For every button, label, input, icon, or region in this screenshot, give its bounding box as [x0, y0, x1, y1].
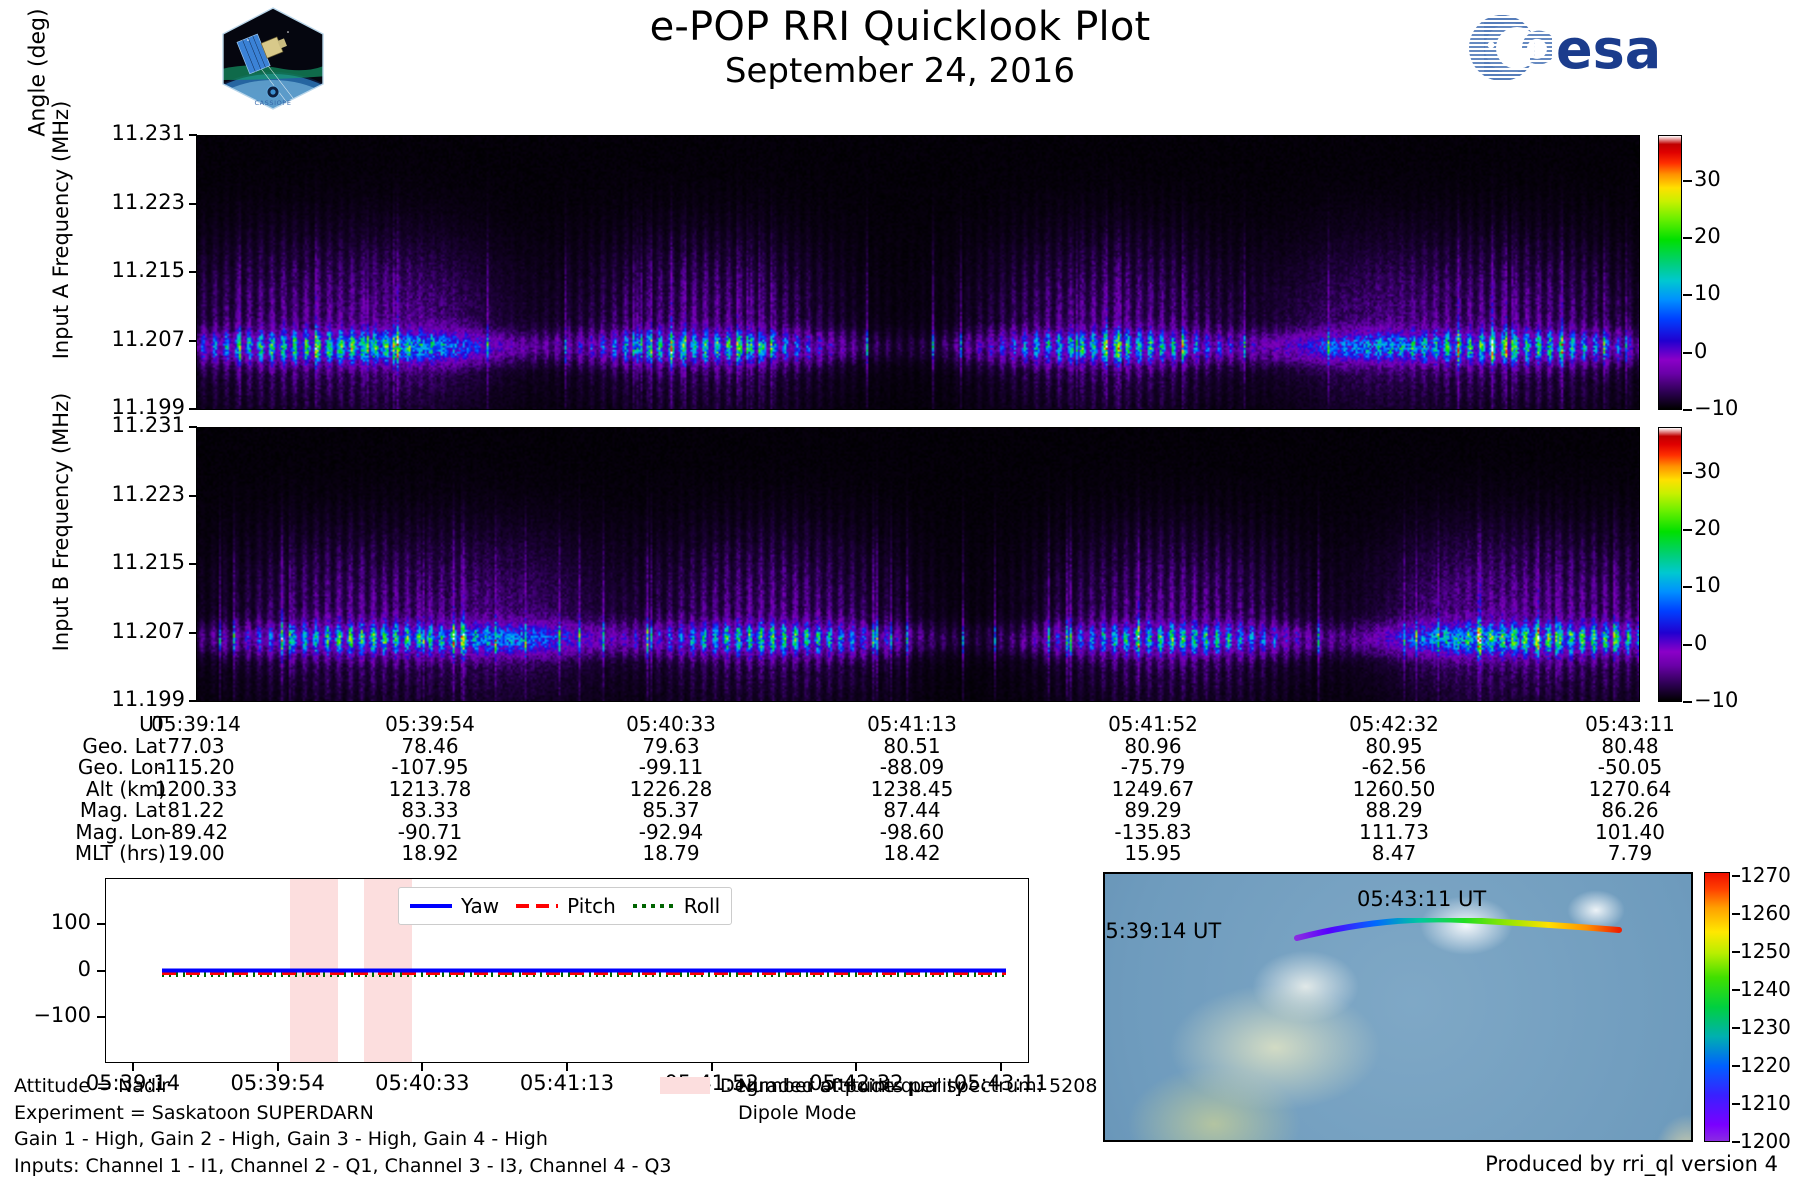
tick-mark [566, 1063, 568, 1071]
voltage-colorbar-tick: 10 [1694, 573, 1721, 597]
ephemeris-cell: 88.29 [1365, 798, 1422, 822]
attitude-ylabel: Angle (deg) [26, 0, 51, 153]
attitude-legend: YawPitchRoll [398, 887, 732, 925]
footer-middle-notes: Degraded attitude quality Number of poin… [738, 1073, 1097, 1126]
tick-mark [189, 495, 197, 497]
ephemeris-cell: -88.09 [880, 755, 944, 779]
ephemeris-cell: 1260.50 [1353, 777, 1436, 801]
ephemeris-row-label: Mag. Lon [0, 820, 166, 844]
ephemeris-cell: 77.03 [167, 734, 224, 758]
spectrogram-a-ytick: 11.215 [10, 258, 185, 282]
tick-mark [1683, 472, 1692, 474]
ephemeris-cell: 111.73 [1359, 820, 1429, 844]
tick-mark [1732, 989, 1740, 991]
footer-note-line: Experiment = Saskatoon SUPERDARN [14, 1100, 672, 1127]
globe-orthographic [1103, 872, 1693, 1142]
altitude-colorbar-tick: 1240 [1740, 977, 1791, 1001]
tick-mark [189, 408, 197, 410]
attitude-ytick: 0 [0, 957, 91, 981]
tick-mark [189, 203, 197, 205]
tick-mark [97, 970, 105, 972]
attitude-legend-item: Yaw [410, 894, 499, 918]
ephemeris-row: Mag. Lon-89.42-90.71-92.94-98.60-135.831… [0, 820, 1800, 842]
tick-mark [97, 1016, 105, 1018]
tick-mark [97, 923, 105, 925]
altitude-colorbar-tick: 1250 [1740, 939, 1791, 963]
tick-mark [132, 1063, 134, 1071]
ephemeris-cell: 05:39:14 [151, 712, 241, 736]
spectrogram-b-ytick: 11.199 [10, 687, 185, 711]
ephemeris-cell: 1226.28 [630, 777, 713, 801]
tick-mark [1683, 294, 1692, 296]
ephemeris-cell: 1213.78 [389, 777, 472, 801]
ephemeris-cell: 101.40 [1595, 820, 1665, 844]
tick-mark [711, 1063, 713, 1071]
legend-label: Yaw [461, 894, 499, 918]
ephemeris-cell: 87.44 [883, 798, 940, 822]
voltage-colorbar-tick: 20 [1694, 224, 1721, 248]
altitude-colorbar [1704, 872, 1730, 1142]
ephemeris-cell: 05:40:33 [626, 712, 716, 736]
tick-mark [855, 1063, 857, 1071]
ephemeris-table: UT05:39:1405:39:5405:40:3305:41:1305:41:… [0, 712, 1800, 863]
voltage-colorbar-tick: −10 [1694, 688, 1738, 712]
ephemeris-cell: 18.92 [401, 841, 458, 865]
producer-credit: Produced by rri_ql version 4 [1485, 1152, 1778, 1176]
ephemeris-row: UT05:39:1405:39:5405:40:3305:41:1305:41:… [0, 712, 1800, 734]
ephemeris-cell: 1200.33 [155, 777, 238, 801]
ephemeris-row: Geo. Lat77.0378.4679.6380.5180.9680.9580… [0, 734, 1800, 756]
ephemeris-row-label: Geo. Lat [0, 734, 166, 758]
ephemeris-cell: -62.56 [1362, 755, 1426, 779]
ephemeris-cell: -98.60 [880, 820, 944, 844]
altitude-colorbar-gradient [1705, 873, 1729, 1141]
ephemeris-cell: -89.42 [164, 820, 228, 844]
tick-mark [189, 632, 197, 634]
ephemeris-cell: 1238.45 [871, 777, 954, 801]
tick-mark [189, 700, 197, 702]
ephemeris-cell: 19.00 [167, 841, 224, 865]
ephemeris-cell: -90.71 [398, 820, 462, 844]
ephemeris-cell: -115.20 [157, 755, 234, 779]
spectrogram-a-ytick: 11.223 [10, 190, 185, 214]
ephemeris-row-label: Geo. Lon [0, 755, 166, 779]
tick-mark [1732, 1065, 1740, 1067]
attitude-plot: YawPitchRoll [105, 878, 1029, 1063]
tick-mark [1732, 1141, 1740, 1143]
tick-mark [1683, 237, 1692, 239]
tick-mark [189, 563, 197, 565]
legend-swatch-yaw [410, 904, 452, 908]
mode-note: Dipole Mode [738, 1100, 1097, 1127]
satellite-ground-track [1293, 918, 1623, 944]
tick-mark [1683, 409, 1692, 411]
spectrogram-b-ytick: 11.207 [10, 619, 185, 643]
footer-note-line: Inputs: Channel 1 - I1, Channel 2 - Q1, … [14, 1153, 672, 1180]
ephemeris-cell: 86.26 [1601, 798, 1658, 822]
tick-mark [421, 1063, 423, 1071]
attitude-ytick: −100 [0, 1003, 91, 1027]
voltage-colorbar-tick: 10 [1694, 281, 1721, 305]
legend-label: Roll [684, 894, 720, 918]
voltage-colorbar-tick: 20 [1694, 516, 1721, 540]
track-end-label: 05:43:11 UT [1357, 887, 1486, 911]
ephemeris-row-label: UT [0, 712, 166, 736]
legend-swatch-pitch [516, 904, 558, 908]
ephemeris-cell: 05:41:13 [867, 712, 957, 736]
spectrogram-a-ytick: 11.207 [10, 327, 185, 351]
voltage-colorbar-tick: −10 [1694, 396, 1738, 420]
ephemeris-cell: -99.11 [639, 755, 703, 779]
tick-mark [1732, 1027, 1740, 1029]
voltage-colorbar-b [1658, 427, 1682, 702]
ephemeris-cell: 80.48 [1601, 734, 1658, 758]
ephemeris-row: Alt (km)1200.331213.781226.281238.451249… [0, 777, 1800, 799]
ephemeris-row: Mag. Lat81.2283.3385.3787.4489.2988.2986… [0, 798, 1800, 820]
footer-note-line: Gain 1 - High, Gain 2 - High, Gain 3 - H… [14, 1126, 672, 1153]
altitude-colorbar-tick: 1260 [1740, 901, 1791, 925]
ephemeris-cell: -50.05 [1598, 755, 1662, 779]
attitude-legend-item: Pitch [516, 894, 616, 918]
ephemeris-cell: 1270.64 [1589, 777, 1672, 801]
ephemeris-cell: 05:41:52 [1108, 712, 1198, 736]
altitude-colorbar-tick: 1200 [1740, 1129, 1791, 1153]
footer-left-notes: Attitude = NadirExperiment = Saskatoon S… [14, 1073, 672, 1179]
ephemeris-row: Geo. Lon-115.20-107.95-99.11-88.09-75.79… [0, 755, 1800, 777]
ephemeris-cell: 83.33 [401, 798, 458, 822]
legend-label: Pitch [567, 894, 616, 918]
ephemeris-cell: 05:42:32 [1349, 712, 1439, 736]
tick-mark [1683, 529, 1692, 531]
ephemeris-cell: 7.79 [1608, 841, 1653, 865]
tick-mark [189, 134, 197, 136]
altitude-colorbar-tick: 1270 [1740, 863, 1791, 887]
ephemeris-cell: 8.47 [1372, 841, 1417, 865]
tick-mark [1683, 180, 1692, 182]
ephemeris-cell: 18.42 [883, 841, 940, 865]
ephemeris-row-label: MLT (hrs) [0, 841, 166, 865]
altitude-colorbar-tick: 1210 [1740, 1091, 1791, 1115]
tick-mark [189, 426, 197, 428]
ephemeris-cell: 78.46 [401, 734, 458, 758]
spectrogram-b-ytick: 11.223 [10, 482, 185, 506]
track-start-label: 05:39:14 UT [1103, 919, 1221, 943]
ephemeris-row-label: Mag. Lat [0, 798, 166, 822]
voltage-colorbar-tick: 30 [1694, 459, 1721, 483]
tick-mark [277, 1063, 279, 1071]
spectrogram-b-panel: Input B Frequency (MHz) [0, 0, 1800, 420]
ephemeris-cell: -92.94 [639, 820, 703, 844]
attitude-ytick: 100 [0, 910, 91, 934]
footer-note-line: Attitude = Nadir [14, 1073, 672, 1100]
ephemeris-row-label: Alt (km) [0, 777, 166, 801]
attitude-legend-item: Roll [633, 894, 720, 918]
ephemeris-cell: 18.79 [642, 841, 699, 865]
ephemeris-cell: -107.95 [391, 755, 468, 779]
spectrogram-b-ytick: 11.215 [10, 550, 185, 574]
altitude-colorbar-tick: 1230 [1740, 1015, 1791, 1039]
voltage-colorbar-b-gradient [1659, 428, 1681, 701]
ephemeris-cell: 89.29 [1124, 798, 1181, 822]
ephemeris-cell: -135.83 [1114, 820, 1191, 844]
tick-mark [1732, 951, 1740, 953]
legend-swatch-roll [633, 904, 675, 908]
voltage-colorbar-tick: 0 [1694, 631, 1707, 655]
tick-mark [1732, 1103, 1740, 1105]
voltage-colorbar-a-gradient [1659, 136, 1681, 409]
spectrogram-b-ytick: 11.231 [10, 413, 185, 437]
spectrogram-b-image [196, 427, 1640, 702]
ephemeris-cell: 1249.67 [1112, 777, 1195, 801]
degraded-attitude-label: Degraded attitude quality [720, 1075, 966, 1097]
ephemeris-cell: 81.22 [167, 798, 224, 822]
tick-mark [189, 340, 197, 342]
tick-mark [189, 271, 197, 273]
tick-mark [1683, 644, 1692, 646]
ephemeris-cell: 05:43:11 [1585, 712, 1675, 736]
ephemeris-row: MLT (hrs)19.0018.9218.7918.4215.958.477.… [0, 841, 1800, 863]
ground-track-map: 05:39:14 UT 05:43:11 UT [1103, 872, 1693, 1142]
altitude-colorbar-tick: 1220 [1740, 1053, 1791, 1077]
ephemeris-cell: -75.79 [1121, 755, 1185, 779]
tick-mark [1683, 586, 1692, 588]
degraded-attitude-swatch [660, 1077, 710, 1094]
ephemeris-cell: 85.37 [642, 798, 699, 822]
tick-mark [1683, 701, 1692, 703]
ephemeris-cell: 80.95 [1365, 734, 1422, 758]
ephemeris-cell: 80.51 [883, 734, 940, 758]
ephemeris-cell: 05:39:54 [385, 712, 475, 736]
tick-mark [1732, 875, 1740, 877]
voltage-colorbar-tick: 0 [1694, 339, 1707, 363]
tick-mark [1000, 1063, 1002, 1071]
ephemeris-cell: 15.95 [1124, 841, 1181, 865]
voltage-colorbar-tick: 30 [1694, 167, 1721, 191]
voltage-colorbar-a [1658, 135, 1682, 410]
tick-mark [1683, 352, 1692, 354]
tick-mark [1732, 913, 1740, 915]
ephemeris-cell: 79.63 [642, 734, 699, 758]
ephemeris-cell: 80.96 [1124, 734, 1181, 758]
